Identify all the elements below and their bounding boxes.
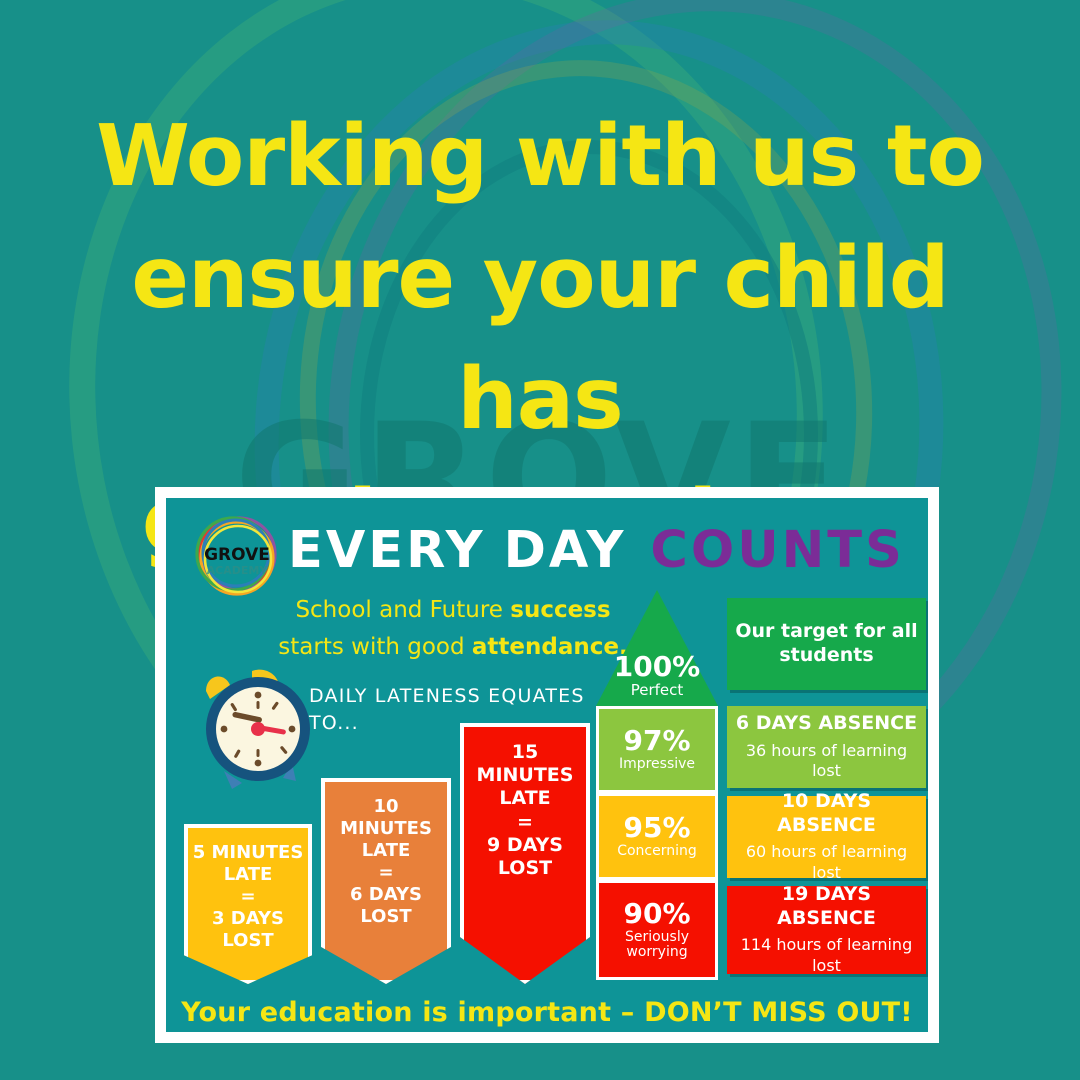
late-box-0-line-4: LOST bbox=[222, 930, 273, 952]
late-box-2-line-4: 9 DAYS bbox=[487, 834, 563, 857]
poster-title: EVERY DAY COUNTS bbox=[288, 512, 928, 588]
attendance-label-95: Concerning bbox=[617, 844, 697, 860]
attendance-desc-sub-90: 114 hours of learning lost bbox=[733, 935, 920, 977]
late-box-1-line-0: 10 bbox=[373, 796, 398, 818]
attendance-desc-90: 19 DAYS ABSENCE 114 hours of learning lo… bbox=[727, 886, 926, 974]
headline-line-2: ensure your child has bbox=[60, 218, 1020, 461]
alarm-clock-icon bbox=[180, 653, 330, 803]
late-box-1-line-2: LATE bbox=[362, 840, 411, 862]
title-word-counts: COUNTS bbox=[650, 525, 904, 576]
late-box-2-line-2: LATE bbox=[499, 787, 550, 810]
late-box-0-line-2: = bbox=[240, 886, 255, 908]
poster-subtitle: School and Future success starts with go… bbox=[278, 592, 628, 667]
attendance-percent-90: 90% bbox=[623, 899, 690, 930]
late-box-2-line-0: 15 bbox=[512, 741, 538, 764]
late-box-2-line-1: MINUTES bbox=[477, 764, 574, 787]
attendance-percent-95: 95% bbox=[623, 813, 690, 844]
attendance-poster: GROVE ACADEMY EVERY DAY COUNTS School an… bbox=[155, 487, 939, 1043]
late-box-5-minutes: 5 MINUTES LATE = 3 DAYS LOST bbox=[184, 824, 312, 984]
late-box-1-line-3: = bbox=[378, 862, 393, 884]
attendance-desc-97: 6 DAYS ABSENCE 36 hours of learning lost bbox=[727, 706, 926, 788]
attendance-percent-97: 97% bbox=[623, 726, 690, 757]
attendance-label-100: Perfect bbox=[596, 682, 718, 699]
attendance-desc-sub-95: 60 hours of learning lost bbox=[733, 842, 920, 884]
attendance-label-97: Impressive bbox=[619, 757, 695, 773]
attendance-desc-100: Our target for all students bbox=[727, 598, 926, 690]
attendance-pyramid: 100% Perfect 97% Impressive 95% Concerni… bbox=[596, 590, 926, 990]
attendance-label-90-line-1: Seriously bbox=[625, 930, 689, 946]
poster-inner: GROVE ACADEMY EVERY DAY COUNTS School an… bbox=[166, 498, 928, 1032]
attendance-desc-title-97: 6 DAYS ABSENCE bbox=[736, 712, 917, 736]
attendance-desc-sub-97: 36 hours of learning lost bbox=[733, 741, 920, 783]
attendance-level-90-cell: 90% Seriously worrying bbox=[596, 880, 718, 980]
attendance-label-90-line-2: worrying bbox=[626, 945, 687, 961]
late-box-0-line-3: 3 DAYS bbox=[212, 908, 284, 930]
attendance-level-97-cell: 97% Impressive bbox=[596, 706, 718, 793]
late-box-1-line-1: MINUTES bbox=[340, 818, 432, 840]
late-box-1-line-4: 6 DAYS bbox=[350, 884, 422, 906]
subtitle-line-1-plain: School and Future bbox=[295, 597, 510, 623]
late-box-0-line-1: LATE bbox=[224, 864, 273, 886]
title-word-day: DAY bbox=[504, 525, 627, 576]
attendance-desc-title-90: 19 DAYS ABSENCE bbox=[733, 883, 920, 931]
late-box-1-line-5: LOST bbox=[360, 906, 411, 928]
triangle-text: 100% Perfect bbox=[596, 652, 718, 698]
svg-text:ACADEMY: ACADEMY bbox=[207, 564, 269, 577]
headline-line-1: Working with us to bbox=[60, 96, 1020, 218]
late-box-10-minutes: 10 MINUTES LATE = 6 DAYS LOST bbox=[321, 778, 451, 984]
grove-academy-logo-icon: GROVE ACADEMY bbox=[191, 510, 283, 602]
attendance-level-95-cell: 95% Concerning bbox=[596, 793, 718, 880]
title-word-every: EVERY bbox=[288, 525, 486, 576]
attendance-percent-100: 100% bbox=[596, 652, 718, 681]
attendance-desc-title-95: 10 DAYS ABSENCE bbox=[733, 790, 920, 838]
late-box-15-minutes: 15 MINUTES LATE = 9 DAYS LOST bbox=[460, 723, 590, 984]
svg-text:GROVE: GROVE bbox=[204, 545, 270, 565]
subtitle-line-2: starts with good attendance. bbox=[278, 629, 628, 666]
late-box-2-line-5: LOST bbox=[498, 857, 552, 880]
attendance-desc-title-100: Our target for all students bbox=[733, 620, 920, 668]
attendance-level-100-triangle: 100% Perfect bbox=[596, 590, 718, 706]
subtitle-line-1: School and Future success bbox=[278, 592, 628, 629]
late-box-0-line-0: 5 MINUTES bbox=[193, 842, 304, 864]
late-box-2-line-3: = bbox=[517, 811, 533, 834]
poster-footer: Your education is important – DON’T MISS… bbox=[166, 997, 928, 1028]
attendance-desc-95: 10 DAYS ABSENCE 60 hours of learning los… bbox=[727, 796, 926, 878]
